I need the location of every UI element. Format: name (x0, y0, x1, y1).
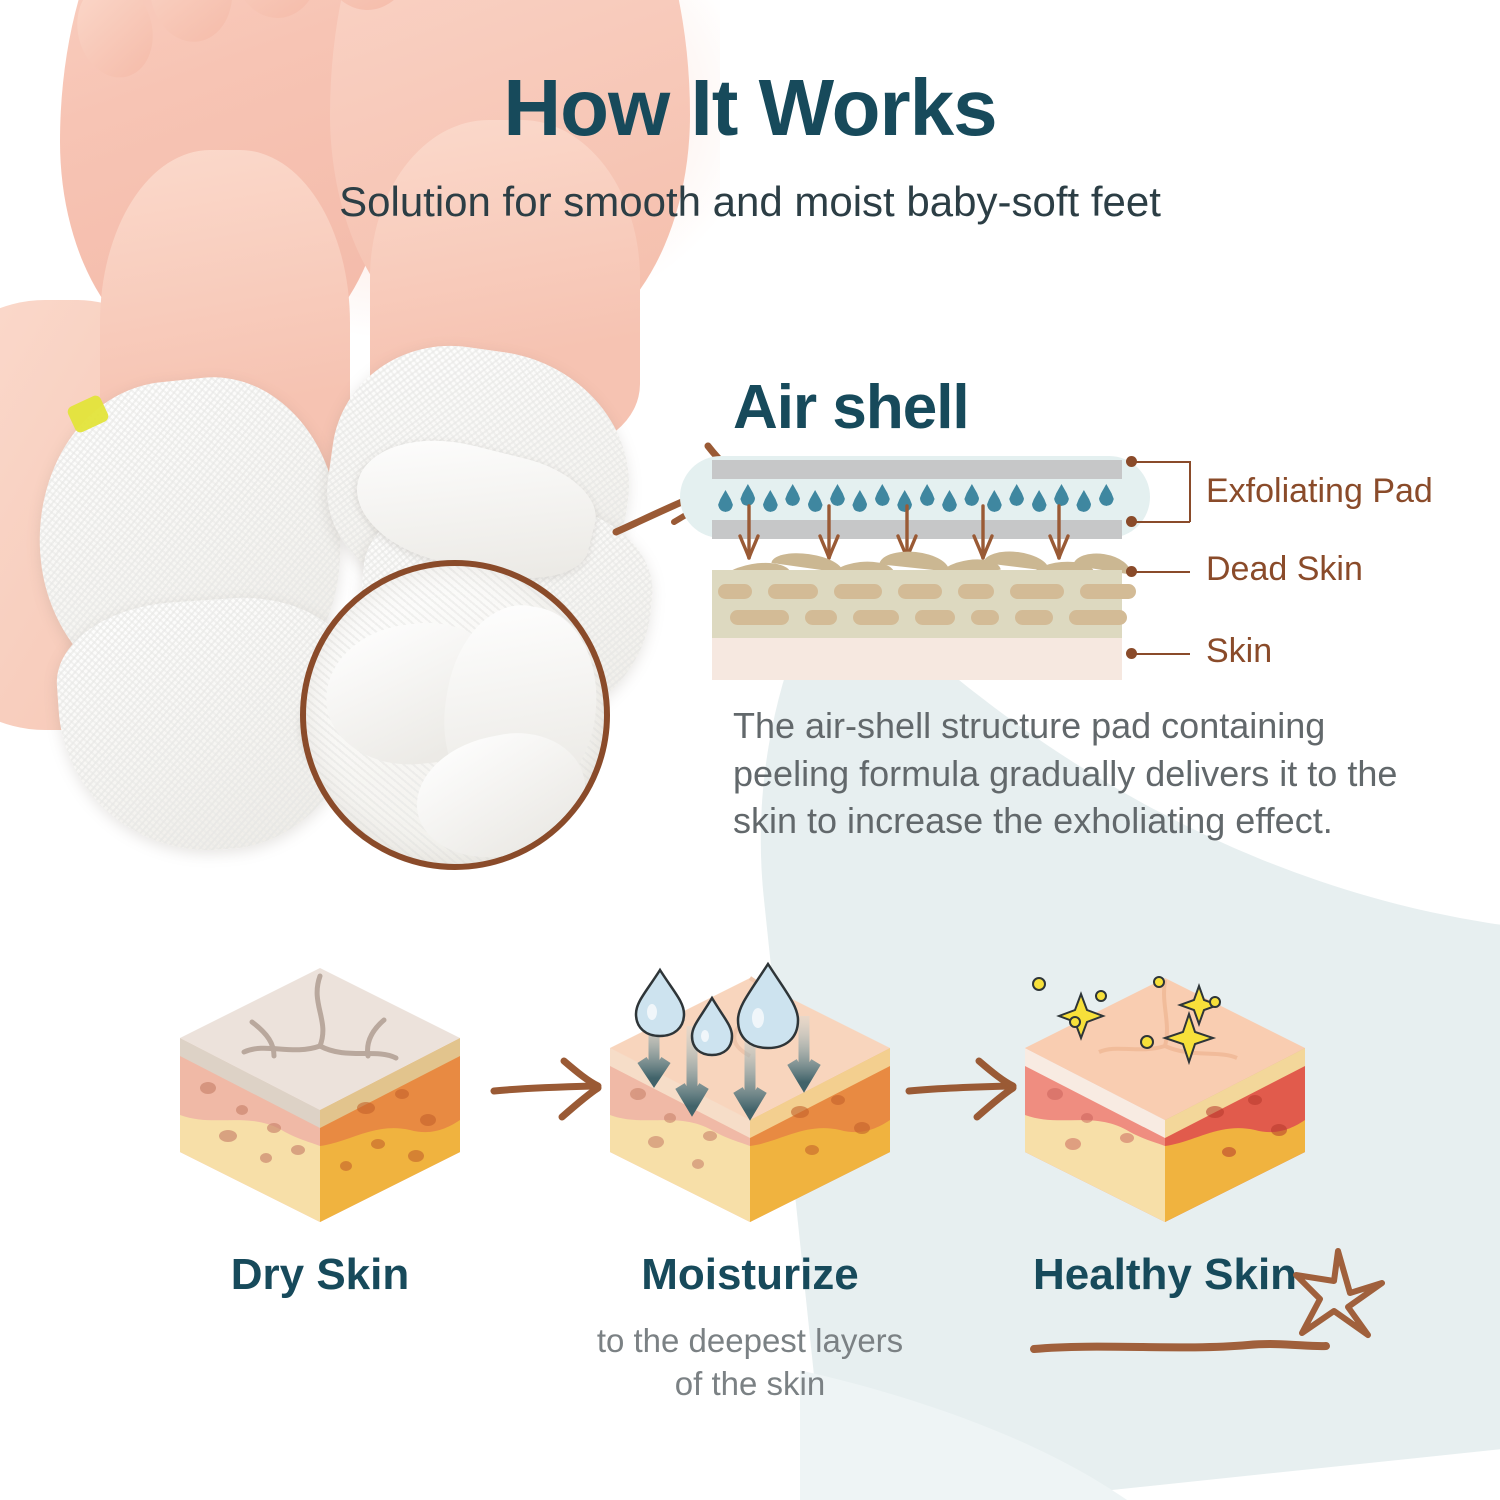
formula-droplet (1009, 484, 1024, 506)
air-shell-diagram (700, 452, 1140, 680)
dead-skin-cell (958, 584, 994, 599)
process-steps: Dry Skin (0, 960, 1500, 1460)
formula-droplet (740, 484, 755, 506)
underline-doodle-icon (1030, 1340, 1330, 1354)
infographic-canvas: How It Works Solution for smooth and moi… (0, 0, 1500, 1500)
dead-skin-cell (853, 610, 899, 625)
air-shell-description: The air-shell structure pad containing p… (733, 702, 1448, 845)
callout-label: Exfoliating Pad (1206, 472, 1433, 511)
step-label-healthy-skin: Healthy Skin (1000, 1250, 1330, 1300)
formula-droplet (785, 484, 800, 506)
step-label-moisturize: Moisturize (585, 1250, 915, 1300)
formula-droplet (763, 490, 778, 512)
dead-skin-cell (1080, 584, 1136, 599)
formula-droplet (1076, 490, 1091, 512)
page-subtitle: Solution for smooth and moist baby-soft … (0, 178, 1500, 226)
step-sublabel-moisturize: to the deepest layers of the skin (570, 1320, 930, 1406)
star-doodle-icon (1290, 1245, 1385, 1340)
dead-skin-cell (1010, 584, 1064, 599)
skin-cube-healthy (1015, 960, 1315, 1230)
formula-droplet (942, 490, 957, 512)
formula-droplet (920, 484, 935, 506)
formula-droplet (964, 484, 979, 506)
pad-bar-top (712, 460, 1122, 479)
penetration-arrow-icon (1048, 504, 1070, 562)
dead-skin-cell (805, 610, 837, 625)
dead-skin-cell (915, 610, 955, 625)
formula-droplet (852, 490, 867, 512)
formula-droplet (718, 490, 733, 512)
skin-layer (712, 638, 1122, 680)
formula-droplet (1054, 484, 1069, 506)
dead-skin-cell (971, 610, 999, 625)
formula-droplet (1032, 490, 1047, 512)
dead-skin-cell (898, 584, 942, 599)
formula-droplet (875, 484, 890, 506)
step-dry-skin: Dry Skin (155, 960, 485, 1230)
dead-skin-cell (718, 584, 752, 599)
penetration-arrow-icon (818, 504, 840, 562)
dead-skin-cell (834, 584, 882, 599)
dead-skin-cell (768, 584, 818, 599)
dead-skin-cell (1069, 610, 1127, 625)
dead-skin-cell (730, 610, 789, 625)
step-label-dry-skin: Dry Skin (155, 1250, 485, 1300)
step-moisturize: Moisturize to the deepest layers of the … (585, 960, 915, 1230)
formula-droplet (1099, 484, 1114, 506)
penetration-arrow-icon (972, 504, 994, 562)
step-healthy-skin: Healthy Skin (1000, 960, 1330, 1230)
air-shell-heading: Air shell (733, 372, 969, 443)
formula-droplet (830, 484, 845, 506)
magnifier-circle-highlight (300, 560, 610, 870)
callout-label: Dead Skin (1206, 550, 1363, 589)
dead-skin-cell (1015, 610, 1053, 625)
page-title: How It Works (0, 62, 1500, 154)
callout-label: Skin (1206, 632, 1272, 671)
penetration-arrow-icon (738, 504, 760, 562)
dead-skin-layer (712, 570, 1122, 638)
skin-cube-moisturize (600, 960, 900, 1230)
skin-cube-dry (170, 960, 470, 1230)
